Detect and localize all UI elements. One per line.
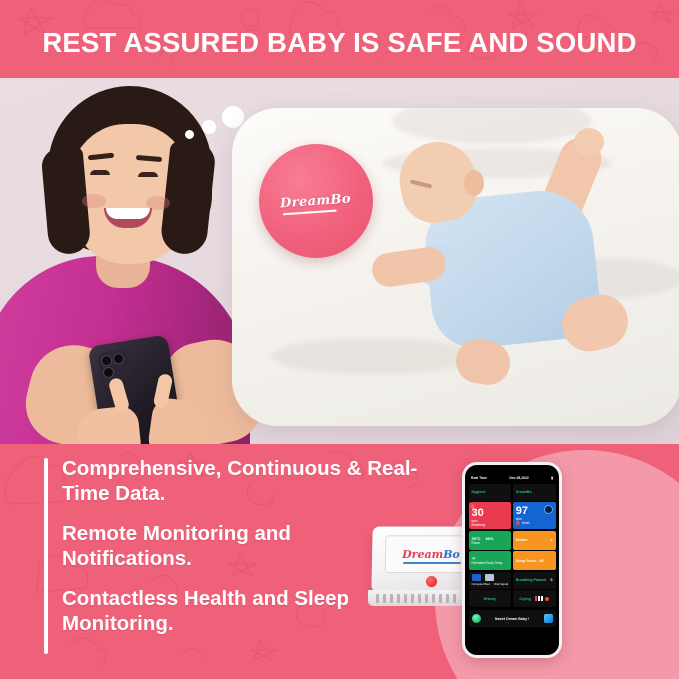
- tile-body-temp[interactable]: °F Estimated Body Temp: [469, 551, 512, 570]
- baby-fist: [574, 128, 604, 156]
- header-title: REST ASSURED BABY IS SAFE AND SOUND: [0, 0, 679, 78]
- hero-photo: DreamBo: [0, 78, 679, 444]
- feature-list: Comprehensive, Continuous & Real-Time Da…: [62, 456, 422, 651]
- record-icon[interactable]: [472, 614, 481, 623]
- tile-breathing[interactable]: (( 30 bpm Breathing: [469, 502, 512, 529]
- app-statusbar: Real Time Dec 08,2022 ▮: [467, 473, 557, 482]
- pulse-ring-icon: [544, 505, 553, 514]
- vent-slot: [446, 594, 449, 603]
- crying-label: Crying: [519, 597, 530, 601]
- vent-slot: [390, 594, 393, 603]
- tile-heart[interactable]: 97 bpm Heart: [513, 502, 556, 529]
- vent-slot: [418, 594, 421, 603]
- vent-slot: [383, 594, 386, 603]
- trail-dot-medium: [202, 120, 216, 134]
- sleep-score-label: Sleep Score - 95: [516, 559, 553, 563]
- feature-item: Comprehensive, Continuous & Real-Time Da…: [62, 456, 422, 506]
- vent-slot: [425, 594, 428, 603]
- vent-slot: [439, 594, 442, 603]
- dashboard-grid: Hygiene DreamBo (( 30 bpm Breathing 97 b…: [467, 482, 557, 609]
- tile-dreambo[interactable]: DreamBo: [513, 484, 556, 501]
- phone-notch: [495, 467, 529, 473]
- camera-lens: [102, 366, 115, 379]
- woman-cheek-left: [82, 194, 106, 208]
- crying-level-icon: [535, 596, 543, 601]
- trail-dot-small: [185, 130, 194, 139]
- heart-label: Heart: [516, 521, 553, 525]
- woman-eye-left: [90, 170, 110, 175]
- tile-hygiene[interactable]: Hygiene: [469, 484, 512, 501]
- tile-bed-status[interactable]: Occupied Bed Vital Signal: [469, 572, 512, 589]
- sheet-fold: [392, 108, 592, 144]
- vent-slot: [453, 594, 456, 603]
- phone-mockup: Real Time Dec 08,2022 ▮ Hygiene DreamBo …: [462, 462, 562, 658]
- body-temp-label: Estimated Body Temp: [472, 561, 509, 565]
- camera-icon[interactable]: [544, 614, 553, 623]
- status-icons: [472, 574, 509, 581]
- bed-icon: [472, 574, 481, 581]
- dreambo-sensor-disc: DreamBo: [259, 144, 373, 258]
- breathing-label: Breathing: [472, 523, 509, 527]
- vent-slot: [432, 594, 435, 603]
- occupied-bed-label: Occupied Bed: [472, 582, 490, 586]
- breathing-value: 30: [472, 508, 509, 519]
- sheet-fold: [272, 338, 472, 374]
- feature-item: Remote Monitoring and Notifications.: [62, 521, 422, 571]
- camera-lens: [100, 354, 113, 367]
- tile-room[interactable]: 30°C 66% Room: [469, 531, 512, 550]
- dreambo-logo: DreamBo: [280, 191, 352, 211]
- tile-label: DreamBo: [516, 490, 553, 494]
- tile-history[interactable]: History: [469, 590, 512, 607]
- camera-lens: [112, 352, 125, 365]
- header-banner: REST ASSURED BABY IS SAFE AND SOUND: [0, 0, 679, 78]
- vent-slot: [376, 594, 379, 603]
- statusbar-date: Dec 08,2022: [509, 476, 528, 480]
- tile-breathing-paused[interactable]: Breathing Paused 0: [513, 572, 556, 589]
- tile-motion[interactable]: Motion 2: [513, 531, 556, 550]
- feature-divider-bar: [44, 458, 48, 654]
- heart-icon: [516, 521, 520, 525]
- vital-signal-label: Vital Signal: [494, 582, 508, 586]
- breathing-paused-value: 0: [551, 578, 553, 582]
- motion-value: 2: [551, 538, 553, 542]
- mattress-panel: DreamBo: [232, 108, 679, 426]
- footer-message: Sweet Dream Baby !: [495, 617, 530, 621]
- phone-screen: Real Time Dec 08,2022 ▮ Hygiene DreamBo …: [465, 465, 559, 655]
- features-panel: Comprehensive, Continuous & Real-Time Da…: [0, 444, 679, 679]
- logo-bo: Bo: [443, 548, 460, 561]
- room-label: Room: [472, 541, 509, 545]
- statusbar-mode: Real Time: [471, 476, 487, 480]
- tile-sleep-score[interactable]: Sleep Score - 95: [513, 551, 556, 570]
- crying-alert-icon: [545, 597, 549, 601]
- trail-dot-large: [222, 106, 244, 128]
- woman-eye-right: [138, 172, 158, 177]
- breathing-paused-label: Breathing Paused: [516, 578, 547, 582]
- tile-crying[interactable]: Crying: [513, 590, 556, 607]
- vent-slot: [411, 594, 414, 603]
- baby-ear: [464, 170, 484, 196]
- motion-label: Motion: [516, 538, 528, 542]
- logo-dream: Dream: [402, 548, 443, 561]
- power-led-icon: [426, 576, 437, 587]
- app-footer: Sweet Dream Baby !: [469, 610, 556, 627]
- woman-teeth: [106, 208, 150, 219]
- bed-status-labels: Occupied Bed Vital Signal: [472, 582, 509, 586]
- history-label: History: [484, 597, 496, 601]
- battery-icon: ▮: [551, 476, 553, 480]
- tile-label: Hygiene: [472, 490, 509, 494]
- signal-icon: [485, 574, 494, 581]
- vent-slot: [397, 594, 400, 603]
- base-station-logo: DreamBo: [402, 548, 460, 561]
- vent-slot: [404, 594, 407, 603]
